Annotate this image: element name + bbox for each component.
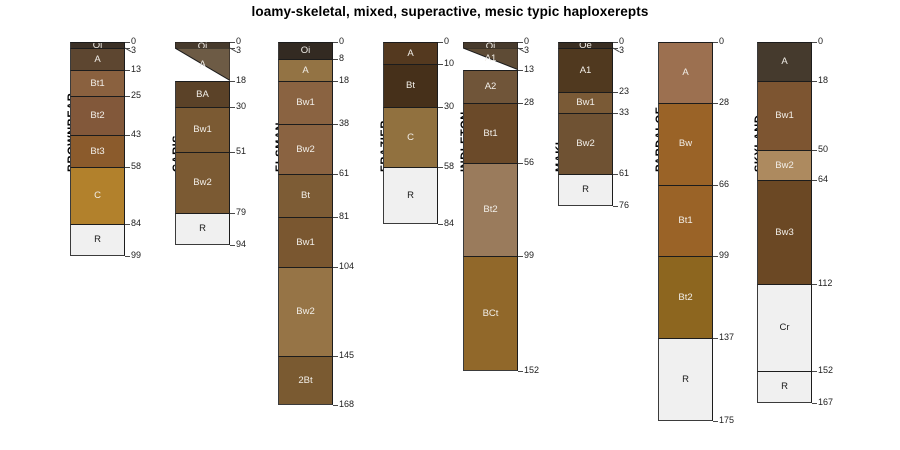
horizon-label: Bw1 [296,98,314,108]
axis-tick [518,371,523,372]
horizon-label: Bw1 [193,125,211,135]
horizon-label: BCt [483,309,499,319]
axis-tick-label: 66 [719,180,729,189]
axis-tick-label: 152 [818,366,833,375]
horizon-label: R [199,224,206,234]
soil-horizon[interactable]: C [70,167,125,223]
axis-tick [333,81,338,82]
axis-tick-label: 28 [719,98,729,107]
axis-tick [713,338,718,339]
axis-tick [518,48,523,49]
axis-tick-label: 0 [339,37,344,46]
soil-horizon[interactable]: Cr [757,284,812,371]
axis-tick [812,284,817,285]
horizon-label: Bt2 [90,111,104,121]
horizon-label: Bw2 [296,307,314,317]
soil-horizon[interactable]: Bt3 [70,135,125,167]
horizon-label: Bt3 [90,147,104,157]
soil-horizon[interactable]: Bw1 [278,217,333,267]
horizon-label: C [94,191,101,201]
axis-tick-label: 18 [818,76,828,85]
horizon-label: C [407,133,414,143]
axis-tick [230,107,235,108]
axis-tick [438,64,443,65]
axis-tick-label: 0 [236,37,241,46]
soil-horizon[interactable]: A [658,42,713,103]
soil-horizon[interactable]: R [175,213,230,245]
depth-axis: 0286699137175 [713,0,755,450]
horizon-label: Cr [779,323,789,333]
horizon-label: Bt1 [483,129,497,139]
horizon-label: R [682,375,689,385]
axis-tick-label: 137 [719,333,734,342]
soil-horizon[interactable]: R [757,371,812,403]
axis-tick [125,167,130,168]
horizon-label: R [407,191,414,201]
horizon-label: Bw3 [775,228,793,238]
soil-horizon[interactable]: Bw1 [757,81,812,150]
axis-tick [518,70,523,71]
horizon-label: Oi [301,46,311,56]
soil-horizon[interactable]: Bt [383,64,438,107]
horizon-label: 2Bt [298,376,312,386]
axis-tick [713,42,718,43]
axis-tick-label: 64 [818,175,828,184]
axis-tick-label: 3 [236,46,241,55]
soil-horizon[interactable]: A [70,48,125,70]
axis-tick-label: 50 [818,145,828,154]
soil-horizon[interactable]: Bw2 [278,267,333,356]
axis-tick [812,81,817,82]
soil-horizon[interactable]: R [70,224,125,256]
soil-horizon[interactable]: A1 [558,48,613,91]
axis-tick-label: 0 [619,37,624,46]
axis-tick [713,185,718,186]
axis-tick-label: 167 [818,398,833,407]
axis-tick [333,42,338,43]
soil-horizon[interactable]: Bt1 [658,185,713,256]
axis-tick [812,403,817,404]
axis-tick [812,371,817,372]
axis-tick-label: 10 [444,59,454,68]
soil-horizon[interactable]: Bt [278,174,333,217]
horizon-label: A1 [580,66,592,76]
axis-tick [438,224,443,225]
axis-tick [812,42,817,43]
soil-horizon[interactable]: Oi [278,42,333,59]
horizon-label: Bt [301,191,310,201]
horizon-label: A [94,55,100,65]
axis-tick-label: 8 [339,54,344,63]
depth-axis: 0323336176 [613,0,655,450]
horizon-label: Bw1 [775,111,793,121]
axis-tick-label: 0 [818,37,823,46]
axis-tick [230,152,235,153]
axis-tick-label: 0 [719,37,724,46]
axis-tick [125,256,130,257]
axis-tick-label: 3 [524,46,529,55]
axis-tick-label: 94 [236,240,246,249]
axis-tick-label: 76 [619,201,629,210]
soil-horizon-wedge[interactable]: A [175,48,230,80]
axis-tick [333,405,338,406]
axis-tick [125,135,130,136]
horizon-label: A [781,57,787,67]
axis-tick [230,42,235,43]
soil-horizon[interactable]: A [757,42,812,81]
axis-tick-label: 0 [131,37,136,46]
axis-tick [333,59,338,60]
axis-tick [125,42,130,43]
horizon-label: R [781,382,788,392]
axis-tick [613,206,618,207]
soil-horizon[interactable]: R [658,338,713,420]
soil-horizon[interactable]: R [383,167,438,223]
axis-tick [333,174,338,175]
depth-axis: 031830517994 [230,0,272,450]
soil-horizon[interactable]: Bt2 [70,96,125,135]
axis-tick-label: 3 [619,46,624,55]
axis-tick [438,107,443,108]
axis-tick-label: 38 [339,119,349,128]
axis-tick [713,103,718,104]
axis-tick [333,217,338,218]
axis-tick [613,113,618,114]
axis-tick-label: 23 [619,87,629,96]
horizon-label: Bw2 [296,145,314,155]
axis-leader-line [613,48,620,52]
axis-tick [613,48,618,49]
axis-leader-line [125,48,132,52]
axis-tick-label: 13 [131,65,141,74]
axis-tick [518,42,523,43]
axis-tick [333,267,338,268]
soil-horizon[interactable]: 2Bt [278,356,333,406]
horizon-label: R [94,235,101,245]
axis-tick-label: 104 [339,262,354,271]
axis-tick [812,150,817,151]
soil-horizon[interactable]: Bw [658,103,713,185]
axis-tick [438,167,443,168]
soil-horizon[interactable]: Bw2 [558,113,613,174]
axis-tick-label: 152 [524,366,539,375]
soil-horizon[interactable]: Bw1 [175,107,230,152]
axis-tick-label: 43 [131,130,141,139]
axis-tick-label: 79 [236,208,246,217]
axis-tick-label: 99 [131,251,141,260]
axis-tick-label: 58 [444,162,454,171]
axis-tick [812,180,817,181]
axis-tick-label: 25 [131,91,141,100]
axis-tick-label: 56 [524,158,534,167]
axis-tick-label: 61 [339,169,349,178]
axis-tick-label: 99 [719,251,729,260]
axis-tick [713,256,718,257]
axis-tick-label: 51 [236,147,246,156]
depth-axis: 0818386181104145168 [333,0,375,450]
soil-horizon[interactable]: Bw1 [278,81,333,124]
soil-horizon[interactable]: R [558,174,613,206]
horizon-label: R [582,185,589,195]
soil-horizon[interactable]: Bt2 [658,256,713,338]
axis-tick [230,213,235,214]
axis-leader-line [518,48,525,52]
axis-tick [333,124,338,125]
horizon-label: A2 [485,82,497,92]
axis-tick [613,92,618,93]
axis-tick [613,174,618,175]
axis-tick [125,48,130,49]
soil-horizon[interactable]: Bt1 [70,70,125,96]
horizon-label: Bw1 [576,98,594,108]
axis-tick-label: 0 [524,37,529,46]
axis-tick [125,96,130,97]
soil-horizon[interactable]: BCt [463,256,518,371]
axis-tick-label: 13 [524,65,534,74]
axis-tick-label: 18 [339,76,349,85]
axis-tick-label: 84 [131,219,141,228]
axis-tick [438,42,443,43]
axis-tick-label: 81 [339,212,349,221]
axis-tick [713,421,718,422]
axis-tick [613,42,618,43]
soil-horizon[interactable]: Bw1 [558,92,613,114]
axis-tick-label: 0 [444,37,449,46]
horizon-label: Bw [679,139,692,149]
soil-horizon[interactable]: Bw2 [757,150,812,180]
axis-tick [125,224,130,225]
horizon-label: A [407,49,413,59]
horizon-label: A [682,68,688,78]
axis-tick-label: 18 [236,76,246,85]
axis-tick-label: 61 [619,169,629,178]
soil-horizon[interactable]: BA [175,81,230,107]
axis-tick-label: 145 [339,351,354,360]
soil-horizon[interactable]: A [278,59,333,81]
axis-tick-label: 30 [236,102,246,111]
axis-tick-label: 168 [339,400,354,409]
horizon-label: BA [196,90,209,100]
horizon-label: Bw2 [193,178,211,188]
horizon-label: Bw2 [775,161,793,171]
axis-tick [230,81,235,82]
axis-tick [518,103,523,104]
soil-horizon[interactable]: Bt1 [463,103,518,164]
horizon-label: Bt2 [483,205,497,215]
horizon-label: Bt [406,81,415,91]
horizon-label: Bt1 [90,79,104,89]
depth-axis: 03132543588499 [125,0,167,450]
soil-horizon[interactable]: Bw2 [278,124,333,174]
axis-tick [333,356,338,357]
axis-tick-label: 99 [524,251,534,260]
soil-horizon[interactable]: Bw3 [757,180,812,284]
horizon-label: Bw1 [296,238,314,248]
axis-tick-label: 112 [818,279,832,288]
axis-tick [125,70,130,71]
axis-tick-label: 30 [444,102,454,111]
depth-axis: 0185064112152167 [812,0,854,450]
soil-horizon[interactable]: Bt2 [463,163,518,256]
page-title: loamy-skeletal, mixed, superactive, mesi… [0,4,900,19]
soil-horizon[interactable]: C [383,107,438,168]
soil-horizon[interactable]: Bw2 [175,152,230,213]
horizon-label: A [302,66,308,76]
soil-horizon[interactable]: A2 [463,70,518,102]
axis-tick-label: 33 [619,108,629,117]
axis-tick-label: 175 [719,416,734,425]
horizon-label: Bt1 [678,216,692,226]
axis-tick-label: 28 [524,98,534,107]
soil-horizon[interactable]: A [383,42,438,64]
axis-tick [518,163,523,164]
axis-tick [230,48,235,49]
axis-tick-label: 3 [131,46,136,55]
axis-tick-label: 84 [444,219,454,228]
axis-tick-label: 58 [131,162,141,171]
horizon-label: Bw2 [576,139,594,149]
axis-leader-line [230,48,237,52]
horizon-label: Bt2 [678,293,692,303]
depth-axis: 0313285699152 [518,0,560,450]
axis-tick [230,245,235,246]
soil-horizon-wedge[interactable]: A1 [463,48,518,70]
axis-tick [518,256,523,257]
